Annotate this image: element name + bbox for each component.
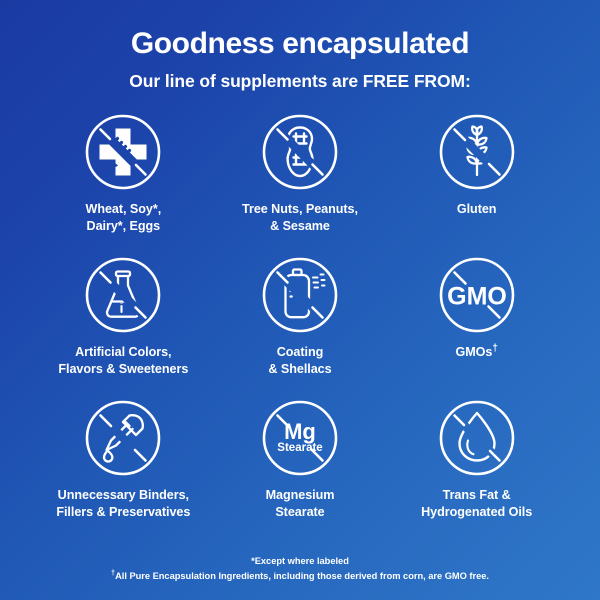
grid-item-trans-fat-hydrogenated-oils: Trans Fat & Hydrogenated Oils	[388, 398, 565, 541]
no-spray-can-icon	[260, 255, 340, 335]
grid-item-label: Coating & Shellacs	[268, 344, 331, 377]
no-peanut-icon	[260, 112, 340, 192]
no-gmo-text-icon: GMO	[437, 255, 517, 335]
grid-item-gmos: GMO GMOs†	[388, 255, 565, 398]
grid-item-label: Artificial Colors, Flavors & Sweeteners	[58, 344, 188, 377]
grid-item-label: Wheat, Soy*, Dairy*, Eggs	[85, 201, 161, 234]
grid-item-label: Tree Nuts, Peanuts, & Sesame	[242, 201, 358, 234]
grid-item-label: Unnecessary Binders, Fillers & Preservat…	[56, 487, 190, 520]
poster-root: Goodness encapsulated Our line of supple…	[0, 0, 600, 600]
grid-item-wheat-soy-dairy-eggs: Wheat, Soy*, Dairy*, Eggs	[35, 112, 212, 255]
page-subtitle: Our line of supplements are FREE FROM:	[0, 71, 600, 92]
mg-inner-text: Mg	[284, 419, 316, 444]
no-dropper-pipette-icon	[83, 398, 163, 478]
grid-item-label: Gluten	[457, 201, 497, 218]
footnote-dagger: †All Pure Encapsulation Ingredients, inc…	[0, 569, 600, 584]
free-from-grid: Wheat, Soy*, Dairy*, Eggs	[35, 112, 565, 541]
gmo-inner-text: GMO	[447, 283, 507, 311]
grid-item-artificial-colors-flavors-sweeteners: Artificial Colors, Flavors & Sweeteners	[35, 255, 212, 398]
page-title: Goodness encapsulated	[0, 27, 600, 60]
grid-item-gluten: Gluten	[388, 112, 565, 255]
no-magnesium-stearate-text-icon: Mg Stearate	[260, 398, 340, 478]
footnote-asterisk: *Except where labeled	[0, 554, 600, 569]
no-wheat-soy-dairy-eggs-cross-icon	[83, 112, 163, 192]
grid-item-coating-shellacs: Coating & Shellacs	[212, 255, 389, 398]
grid-item-magnesium-stearate: Mg Stearate Magnesium Stearate	[212, 398, 389, 541]
no-gluten-wheat-stalk-icon	[437, 112, 517, 192]
grid-item-unnecessary-binders-fillers-preservatives: Unnecessary Binders, Fillers & Preservat…	[35, 398, 212, 541]
grid-item-label: Magnesium Stearate	[266, 487, 335, 520]
grid-item-label: GMOs†	[456, 344, 498, 361]
footnotes: *Except where labeled †All Pure Encapsul…	[0, 554, 600, 584]
header: Goodness encapsulated Our line of supple…	[0, 0, 600, 92]
no-oil-droplet-icon	[437, 398, 517, 478]
stearate-inner-text: Stearate	[277, 442, 322, 454]
dagger-marker: †	[492, 343, 497, 354]
grid-item-tree-nuts-peanuts-sesame: Tree Nuts, Peanuts, & Sesame	[212, 112, 389, 255]
no-flask-icon	[83, 255, 163, 335]
grid-item-label: Trans Fat & Hydrogenated Oils	[421, 487, 532, 520]
